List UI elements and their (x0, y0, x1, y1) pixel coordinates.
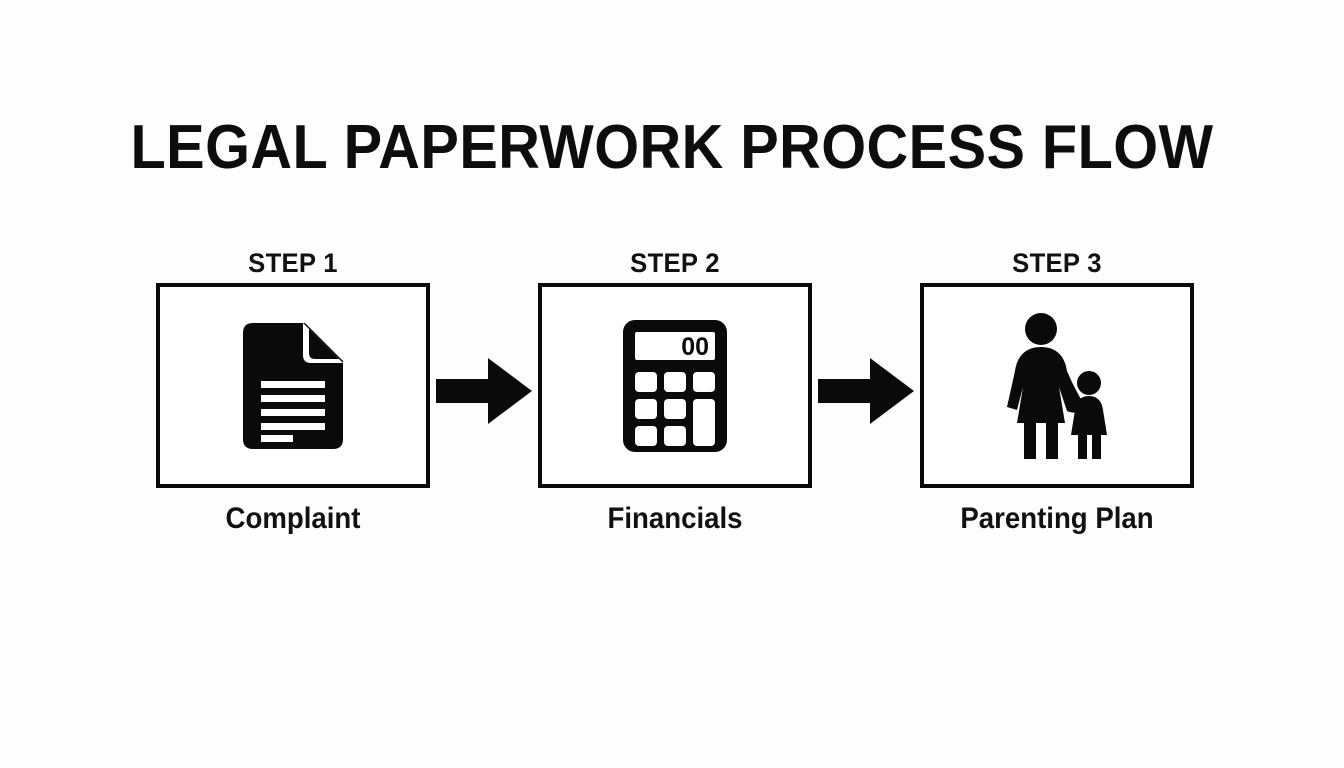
process-flow-slide: LEGAL PAPERWORK PROCESS FLOW STEP 1 (0, 0, 1344, 768)
process-step-1[interactable]: STEP 1 (156, 248, 430, 548)
process-step-2[interactable]: STEP 2 00 (538, 248, 812, 548)
step-2-box[interactable]: 00 (538, 283, 812, 488)
family-icon (995, 311, 1119, 461)
calculator-icon: 00 (623, 320, 727, 452)
step-1-label: STEP 1 (163, 248, 423, 279)
step-1-caption: Complaint (149, 501, 438, 537)
step-2-label: STEP 2 (545, 248, 805, 279)
step-2-caption: Financials (531, 501, 820, 537)
arrow-right-icon-2 (818, 356, 914, 426)
page-title: LEGAL PAPERWORK PROCESS FLOW (47, 112, 1297, 184)
step-3-caption: Parenting Plan (913, 501, 1202, 537)
document-icon (243, 323, 343, 449)
process-step-3[interactable]: STEP 3 (920, 248, 1194, 548)
step-3-label: STEP 3 (927, 248, 1187, 279)
arrow-right-icon (436, 356, 532, 426)
calculator-display-value: 00 (681, 333, 709, 361)
step-1-box[interactable] (156, 283, 430, 488)
process-flow-row: STEP 1 (0, 248, 1344, 548)
step-3-box[interactable] (920, 283, 1194, 488)
